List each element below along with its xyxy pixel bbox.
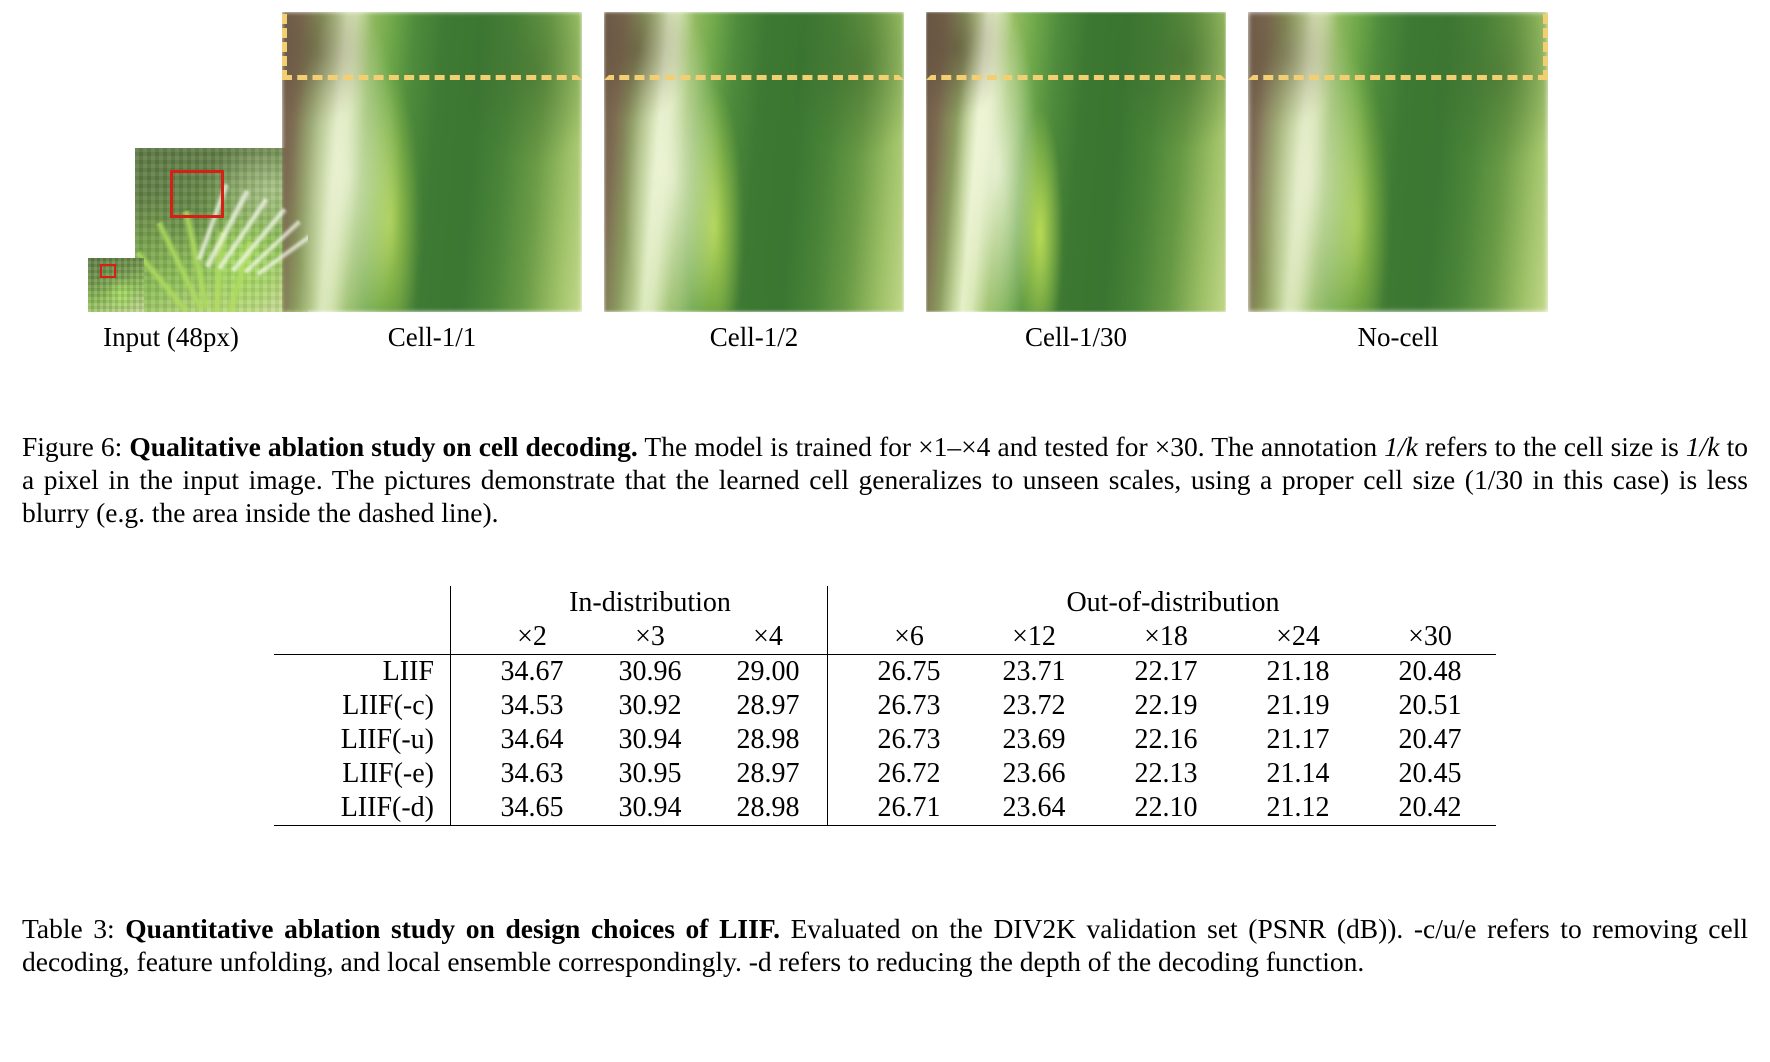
row-label-liif-d: LIIF(-d) [274, 791, 451, 826]
cell-liif-c-x3: 30.92 [591, 689, 709, 723]
figure-6-caption: Figure 6: Qualitative ablation study on … [22, 430, 1748, 529]
table-3-caption: Table 3: Quantitative ablation study on … [22, 912, 1748, 978]
cell-liif-d-x6: 26.71 [828, 791, 969, 826]
cell-liif-c-x4: 28.97 [709, 689, 828, 723]
cell-liif-c-x30: 20.51 [1364, 689, 1496, 723]
table-column-header-row: ×2 ×3 ×4 ×6 ×12 ×18 ×24 ×30 [274, 620, 1496, 655]
crop-region-box [170, 170, 224, 218]
cell-liif-e-x12: 23.66 [968, 757, 1100, 791]
cell-liif-d-x2: 34.65 [451, 791, 592, 826]
figure-caption-title: Qualitative ablation study on cell decod… [129, 431, 637, 462]
cell-liif-d-x12: 23.64 [968, 791, 1100, 826]
crop-image-cell-1-30-overlay [926, 12, 1226, 312]
cell-liif-u-x24: 21.17 [1232, 723, 1364, 757]
cell-liif-u-x18: 22.16 [1100, 723, 1232, 757]
input-image-thumbnail-small [88, 258, 144, 312]
cell-liif-e-x18: 22.13 [1100, 757, 1232, 791]
cell-liif-d-x4: 28.98 [709, 791, 828, 826]
cell-liif-x6: 26.75 [828, 655, 969, 690]
column-header-x3: ×3 [591, 620, 709, 655]
cell-liif-u-x6: 26.73 [828, 723, 969, 757]
table-row: LIIF(-u) 34.64 30.94 28.98 26.73 23.69 2… [274, 723, 1496, 757]
cell-liif-c-x6: 26.73 [828, 689, 969, 723]
cell-liif-e-x3: 30.95 [591, 757, 709, 791]
cell-liif-e-x6: 26.72 [828, 757, 969, 791]
panel-input-thumbnail [88, 148, 254, 312]
row-label-liif-c: LIIF(-c) [274, 689, 451, 723]
cell-liif-x18: 22.17 [1100, 655, 1232, 690]
cell-liif-u-x30: 20.47 [1364, 723, 1496, 757]
cell-liif-c-x24: 21.19 [1232, 689, 1364, 723]
panel-label-no-cell: No-cell [1248, 322, 1548, 353]
table-row: LIIF(-e) 34.63 30.95 28.97 26.72 23.66 2… [274, 757, 1496, 791]
cell-liif-e-x24: 21.14 [1232, 757, 1364, 791]
figure-caption-italic-2: 1/k [1686, 431, 1720, 462]
crop-image-cell-1-2-overlay [604, 12, 904, 312]
table-caption-number: Table 3: [22, 913, 115, 944]
figure-caption-body-1: The model is trained for ×1–×4 and teste… [638, 431, 1384, 462]
panel-label-cell-1-2: Cell-1/2 [604, 322, 904, 353]
ablation-table: In-distribution Out-of-distribution ×2 ×… [274, 586, 1496, 826]
column-header-x18: ×18 [1100, 620, 1232, 655]
row-label-liif: LIIF [274, 655, 451, 690]
row-label-liif-u: LIIF(-u) [274, 723, 451, 757]
column-header-x30: ×30 [1364, 620, 1496, 655]
table-3-wrapper: In-distribution Out-of-distribution ×2 ×… [0, 586, 1770, 826]
cell-liif-x2: 34.67 [451, 655, 592, 690]
cell-liif-u-x3: 30.94 [591, 723, 709, 757]
column-header-x12: ×12 [968, 620, 1100, 655]
column-header-x4: ×4 [709, 620, 828, 655]
column-header-x2: ×2 [451, 620, 592, 655]
cell-liif-d-x24: 21.12 [1232, 791, 1364, 826]
panel-label-cell-1-30: Cell-1/30 [926, 322, 1226, 353]
cell-liif-u-x2: 34.64 [451, 723, 592, 757]
panel-cell-1-30 [926, 12, 1226, 312]
table-row: LIIF(-d) 34.65 30.94 28.98 26.71 23.64 2… [274, 791, 1496, 826]
group-header-in-distribution: In-distribution [451, 586, 828, 620]
paper-figure-page: Input (48px) Cell-1/1 Cell-1/2 Cell-1/30 [0, 0, 1770, 1062]
table-row: LIIF 34.67 30.96 29.00 26.75 23.71 22.17… [274, 655, 1496, 690]
figure-caption-body-2: refers to the cell size is [1418, 431, 1686, 462]
cell-liif-x30: 20.48 [1364, 655, 1496, 690]
panel-no-cell [1248, 12, 1548, 312]
cell-liif-u-x12: 23.69 [968, 723, 1100, 757]
panel-cell-1-2 [604, 12, 904, 312]
crop-image-cell-1-1-overlay [282, 12, 582, 312]
table-group-header-row: In-distribution Out-of-distribution [274, 586, 1496, 620]
cell-liif-c-x12: 23.72 [968, 689, 1100, 723]
cell-liif-d-x18: 22.10 [1100, 791, 1232, 826]
panel-label-input: Input (48px) [38, 322, 304, 353]
table-caption-title: Quantitative ablation study on design ch… [125, 913, 780, 944]
column-header-blank [274, 620, 451, 655]
column-header-x24: ×24 [1232, 620, 1364, 655]
crop-image-no-cell-overlay [1248, 12, 1548, 312]
cell-liif-d-x30: 20.42 [1364, 791, 1496, 826]
group-header-out-of-distribution: Out-of-distribution [828, 586, 1497, 620]
cell-liif-e-x30: 20.45 [1364, 757, 1496, 791]
cell-liif-c-x2: 34.53 [451, 689, 592, 723]
cell-liif-e-x2: 34.63 [451, 757, 592, 791]
cell-liif-x12: 23.71 [968, 655, 1100, 690]
column-header-x6: ×6 [828, 620, 969, 655]
figure-6-panel-row: Input (48px) Cell-1/1 Cell-1/2 Cell-1/30 [0, 0, 1770, 318]
row-label-liif-e: LIIF(-e) [274, 757, 451, 791]
cell-liif-x4: 29.00 [709, 655, 828, 690]
cell-liif-x24: 21.18 [1232, 655, 1364, 690]
figure-caption-italic-1: 1/k [1384, 431, 1418, 462]
panel-label-cell-1-1: Cell-1/1 [282, 322, 582, 353]
cell-liif-x3: 30.96 [591, 655, 709, 690]
cell-liif-u-x4: 28.98 [709, 723, 828, 757]
cell-liif-e-x4: 28.97 [709, 757, 828, 791]
figure-caption-number: Figure 6: [22, 431, 122, 462]
cell-liif-d-x3: 30.94 [591, 791, 709, 826]
table-row: LIIF(-c) 34.53 30.92 28.97 26.73 23.72 2… [274, 689, 1496, 723]
panel-cell-1-1 [282, 12, 582, 312]
group-header-blank [274, 586, 451, 620]
cell-liif-c-x18: 22.19 [1100, 689, 1232, 723]
